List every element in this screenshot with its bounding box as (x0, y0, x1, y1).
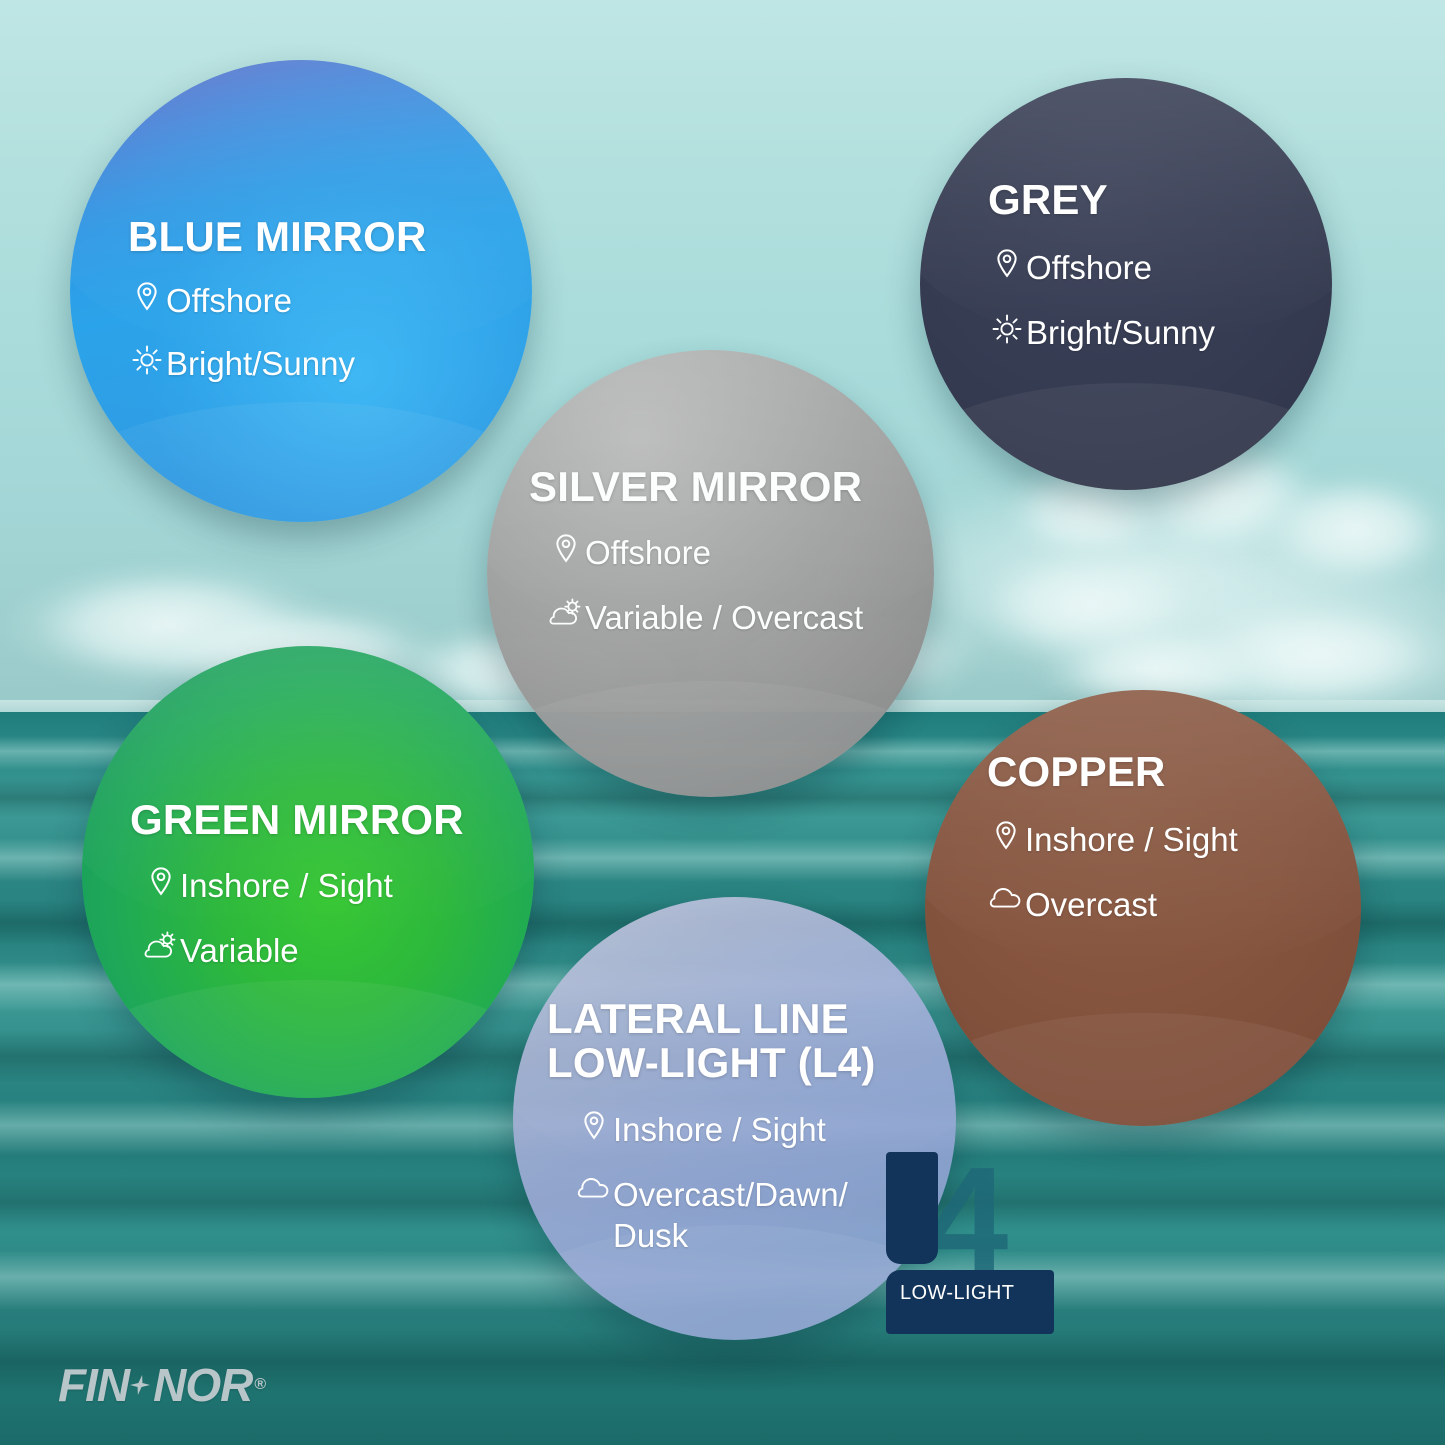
registered-trademark-symbol: ® (254, 1376, 265, 1394)
feature-label: Bright/Sunny (166, 344, 355, 385)
lens-title-blue-mirror: BLUE MIRROR (128, 215, 532, 259)
feature-label: Inshore / Sight (1025, 820, 1238, 861)
lens-card-grey[interactable]: GREY Offshore (920, 78, 1332, 490)
feature-label: Offshore (585, 533, 711, 574)
sun-icon (988, 313, 1026, 347)
feature-row: Variable (142, 931, 534, 972)
finnor-logo: FIN NOR ® (58, 1358, 265, 1412)
l4-low-light-badge: 4 LOW-LIGHT (886, 1152, 1056, 1334)
feature-label: Variable (180, 931, 299, 972)
location-pin-icon (128, 281, 166, 315)
location-pin-icon (988, 248, 1026, 282)
badge-letter-l-stem (886, 1152, 938, 1264)
badge-low-light-label: LOW-LIGHT (900, 1282, 1050, 1305)
feature-row: Overcast (987, 885, 1361, 926)
feature-row: Offshore (547, 533, 934, 574)
location-pin-icon (575, 1110, 613, 1144)
partly-cloudy-icon (142, 931, 180, 965)
lens-title-grey: GREY (988, 178, 1332, 222)
feature-row: Inshore / Sight (987, 820, 1361, 861)
feature-row: Variable / Overcast (547, 598, 934, 639)
feature-label: Inshore / Sight (613, 1110, 826, 1151)
cloud-icon (575, 1175, 613, 1209)
feature-row: Inshore / Sight (142, 866, 534, 907)
logo-text-nor: NOR (153, 1358, 252, 1412)
feature-label: Offshore (1026, 248, 1152, 289)
cloud-icon (987, 885, 1025, 919)
sun-icon (128, 344, 166, 378)
lens-card-green-mirror[interactable]: GREEN MIRROR Inshore / Sight (82, 646, 534, 1098)
feature-label: Bright/Sunny (1026, 313, 1215, 354)
lens-card-silver-mirror[interactable]: SILVER MIRROR Offshore (487, 350, 934, 797)
lens-card-blue-mirror[interactable]: BLUE MIRROR Offshore (70, 60, 532, 522)
lens-card-copper[interactable]: COPPER Inshore / Sight (925, 690, 1361, 1126)
infographic-canvas: BLUE MIRROR Offshore (0, 0, 1445, 1445)
feature-row: Inshore / Sight (575, 1110, 956, 1151)
location-pin-icon (987, 820, 1025, 854)
lens-title-green-mirror: GREEN MIRROR (130, 798, 534, 842)
feature-row: Bright/Sunny (128, 344, 532, 385)
feature-row: Offshore (128, 281, 532, 322)
diamond-star-icon (128, 1375, 152, 1395)
feature-label: Overcast (1025, 885, 1157, 926)
lens-title-silver-mirror: SILVER MIRROR (529, 465, 934, 509)
logo-text-fin: FIN (58, 1358, 129, 1412)
feature-label: Offshore (166, 281, 292, 322)
feature-row: Bright/Sunny (988, 313, 1332, 354)
feature-row: Offshore (988, 248, 1332, 289)
partly-cloudy-icon (547, 598, 585, 632)
location-pin-icon (142, 866, 180, 900)
lens-title-lateral-line: LATERAL LINE LOW-LIGHT (L4) (547, 997, 956, 1084)
feature-label: Overcast/Dawn/ Dusk (613, 1175, 903, 1257)
lens-title-copper: COPPER (987, 750, 1361, 794)
feature-label: Variable / Overcast (585, 598, 863, 639)
location-pin-icon (547, 533, 585, 567)
feature-label: Inshore / Sight (180, 866, 393, 907)
